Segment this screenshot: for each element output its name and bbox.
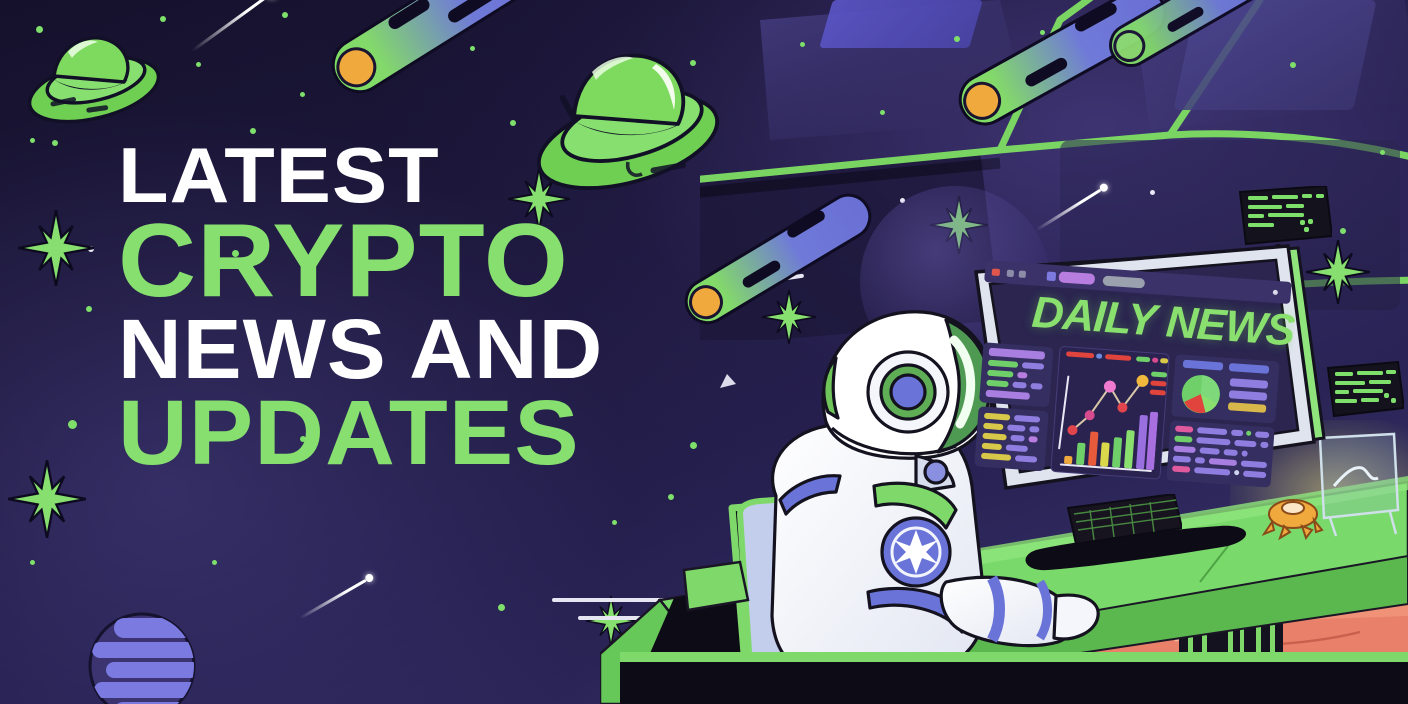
headline-line-2: CRYPTO	[118, 214, 599, 310]
window-dot-close[interactable]	[992, 269, 1001, 277]
browser-menu-dot[interactable]	[1273, 290, 1278, 295]
ufo-left	[24, 24, 164, 128]
page-title: LATEST CRYPTO NEWS AND UPDATES	[118, 140, 580, 475]
terminal-lower-right	[1326, 360, 1404, 420]
sparkle-star-left-upper	[18, 210, 94, 286]
panel-data-table	[1166, 420, 1275, 487]
comet-top-left	[321, 0, 563, 104]
monitor-screen: DAILY NEWS	[970, 256, 1298, 496]
shooting-star-bottom-left	[297, 573, 372, 623]
triangle-blip	[720, 374, 738, 390]
bar-chart	[1062, 406, 1158, 471]
headline-line-3: NEWS AND	[118, 311, 603, 388]
window-dot-min[interactable]	[1007, 270, 1015, 278]
browser-tab[interactable]	[1058, 271, 1095, 285]
panel-left-bottom	[974, 406, 1049, 471]
headline-line-4: UPDATES	[118, 391, 603, 476]
panel-pie-chart	[1171, 354, 1280, 423]
panel-center-chart	[1050, 346, 1169, 480]
terminal-top-right	[1238, 186, 1332, 248]
pie-chart	[1177, 371, 1224, 418]
browser-tab-favicon[interactable]	[1047, 271, 1057, 281]
sparkle-star-left-lower	[8, 460, 86, 538]
floor-strip	[620, 660, 1408, 704]
shooting-star-top-left	[188, 0, 277, 57]
crypto-news-banner: LATEST CRYPTO NEWS AND UPDATES	[0, 0, 1408, 704]
floor-trim	[620, 652, 1408, 662]
window-dot-max[interactable]	[1019, 270, 1027, 278]
headline-line-1: LATEST	[118, 140, 608, 212]
striped-planet	[88, 612, 196, 704]
browser-url-pill[interactable]	[1102, 275, 1145, 288]
panel-left-top	[979, 342, 1054, 407]
